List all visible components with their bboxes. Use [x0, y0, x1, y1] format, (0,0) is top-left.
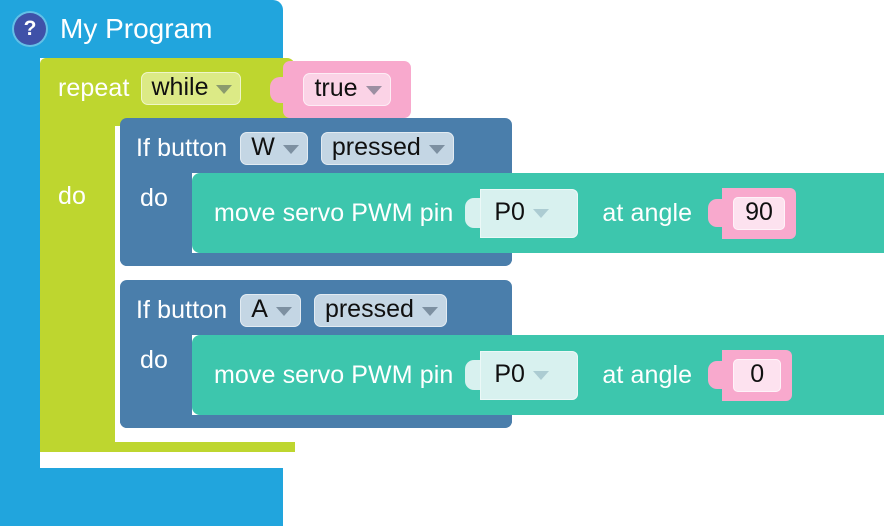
move-servo-label: move servo PWM pin [214, 201, 453, 226]
block-notch-nub [154, 280, 188, 289]
if-do-label: do [140, 186, 168, 211]
servo-pin-value: P0 [494, 200, 525, 225]
button-select-value: A [251, 297, 268, 322]
if-button-label: If button [136, 298, 227, 323]
button-select-dropdown[interactable]: W [240, 132, 308, 165]
repeat-keyword-label: repeat [58, 76, 130, 101]
button-state-dropdown[interactable]: pressed [321, 132, 454, 165]
program-block-foot [0, 468, 283, 526]
socket-notch-icon [708, 199, 722, 227]
chevron-down-icon [533, 209, 549, 218]
boolean-true-block[interactable]: true [283, 61, 411, 118]
move-servo-block[interactable]: move servo PWM pin P0 at angle 0 [192, 335, 884, 415]
button-state-dropdown[interactable]: pressed [314, 294, 447, 327]
block-notch-nub [216, 173, 250, 182]
repeat-row: repeat while [58, 72, 241, 105]
button-select-dropdown[interactable]: A [240, 294, 301, 327]
chevron-down-icon [533, 371, 549, 380]
servo-angle-socket[interactable]: 90 [708, 188, 796, 239]
program-title: My Program [60, 15, 212, 43]
angle-number-block[interactable]: 0 [722, 350, 792, 401]
servo-pin-dropdown[interactable]: P0 [480, 351, 578, 400]
loop-mode-value: while [152, 75, 209, 100]
socket-notch-icon [465, 360, 480, 390]
if-condition-row: If button A pressed [136, 294, 447, 327]
servo-pin-value: P0 [494, 362, 525, 387]
at-angle-label: at angle [602, 363, 692, 388]
socket-notch-icon [708, 361, 722, 389]
chevron-down-icon [216, 85, 232, 94]
servo-pin-socket[interactable]: P0 [465, 351, 578, 400]
servo-angle-socket[interactable]: 0 [708, 350, 792, 401]
angle-value[interactable]: 90 [733, 197, 785, 230]
chevron-down-icon [366, 86, 382, 95]
chevron-down-icon [276, 307, 292, 316]
servo-pin-socket[interactable]: P0 [465, 189, 578, 238]
servo-pin-dropdown[interactable]: P0 [480, 189, 578, 238]
move-servo-label: move servo PWM pin [214, 363, 453, 388]
repeat-block-foot [40, 442, 295, 452]
at-angle-label: at angle [602, 201, 692, 226]
move-servo-block[interactable]: move servo PWM pin P0 at angle 90 [192, 173, 884, 253]
boolean-value-dropdown[interactable]: true [303, 73, 390, 106]
button-state-value: pressed [332, 135, 421, 160]
if-button-label: If button [136, 136, 227, 161]
if-block-foot [120, 253, 512, 266]
if-condition-row: If button W pressed [136, 132, 454, 165]
program-header: ? My Program [0, 0, 283, 58]
if-block-foot [120, 415, 512, 428]
loop-mode-dropdown[interactable]: while [141, 72, 242, 105]
question-mark-icon[interactable]: ? [14, 13, 46, 45]
angle-number-block[interactable]: 90 [722, 188, 796, 239]
boolean-value: true [314, 76, 357, 101]
button-select-value: W [251, 135, 275, 160]
angle-value[interactable]: 0 [733, 359, 781, 392]
block-notch-nub [154, 118, 188, 127]
block-notch-nub [216, 335, 250, 344]
repeat-do-label: do [58, 184, 86, 209]
chevron-down-icon [422, 307, 438, 316]
blockly-workspace[interactable]: ? My Program repeat while do true If but… [0, 0, 884, 526]
block-notch-nub [74, 58, 108, 67]
chevron-down-icon [283, 145, 299, 154]
chevron-down-icon [429, 145, 445, 154]
button-state-value: pressed [325, 297, 414, 322]
socket-notch-icon [465, 198, 480, 228]
if-do-label: do [140, 348, 168, 373]
